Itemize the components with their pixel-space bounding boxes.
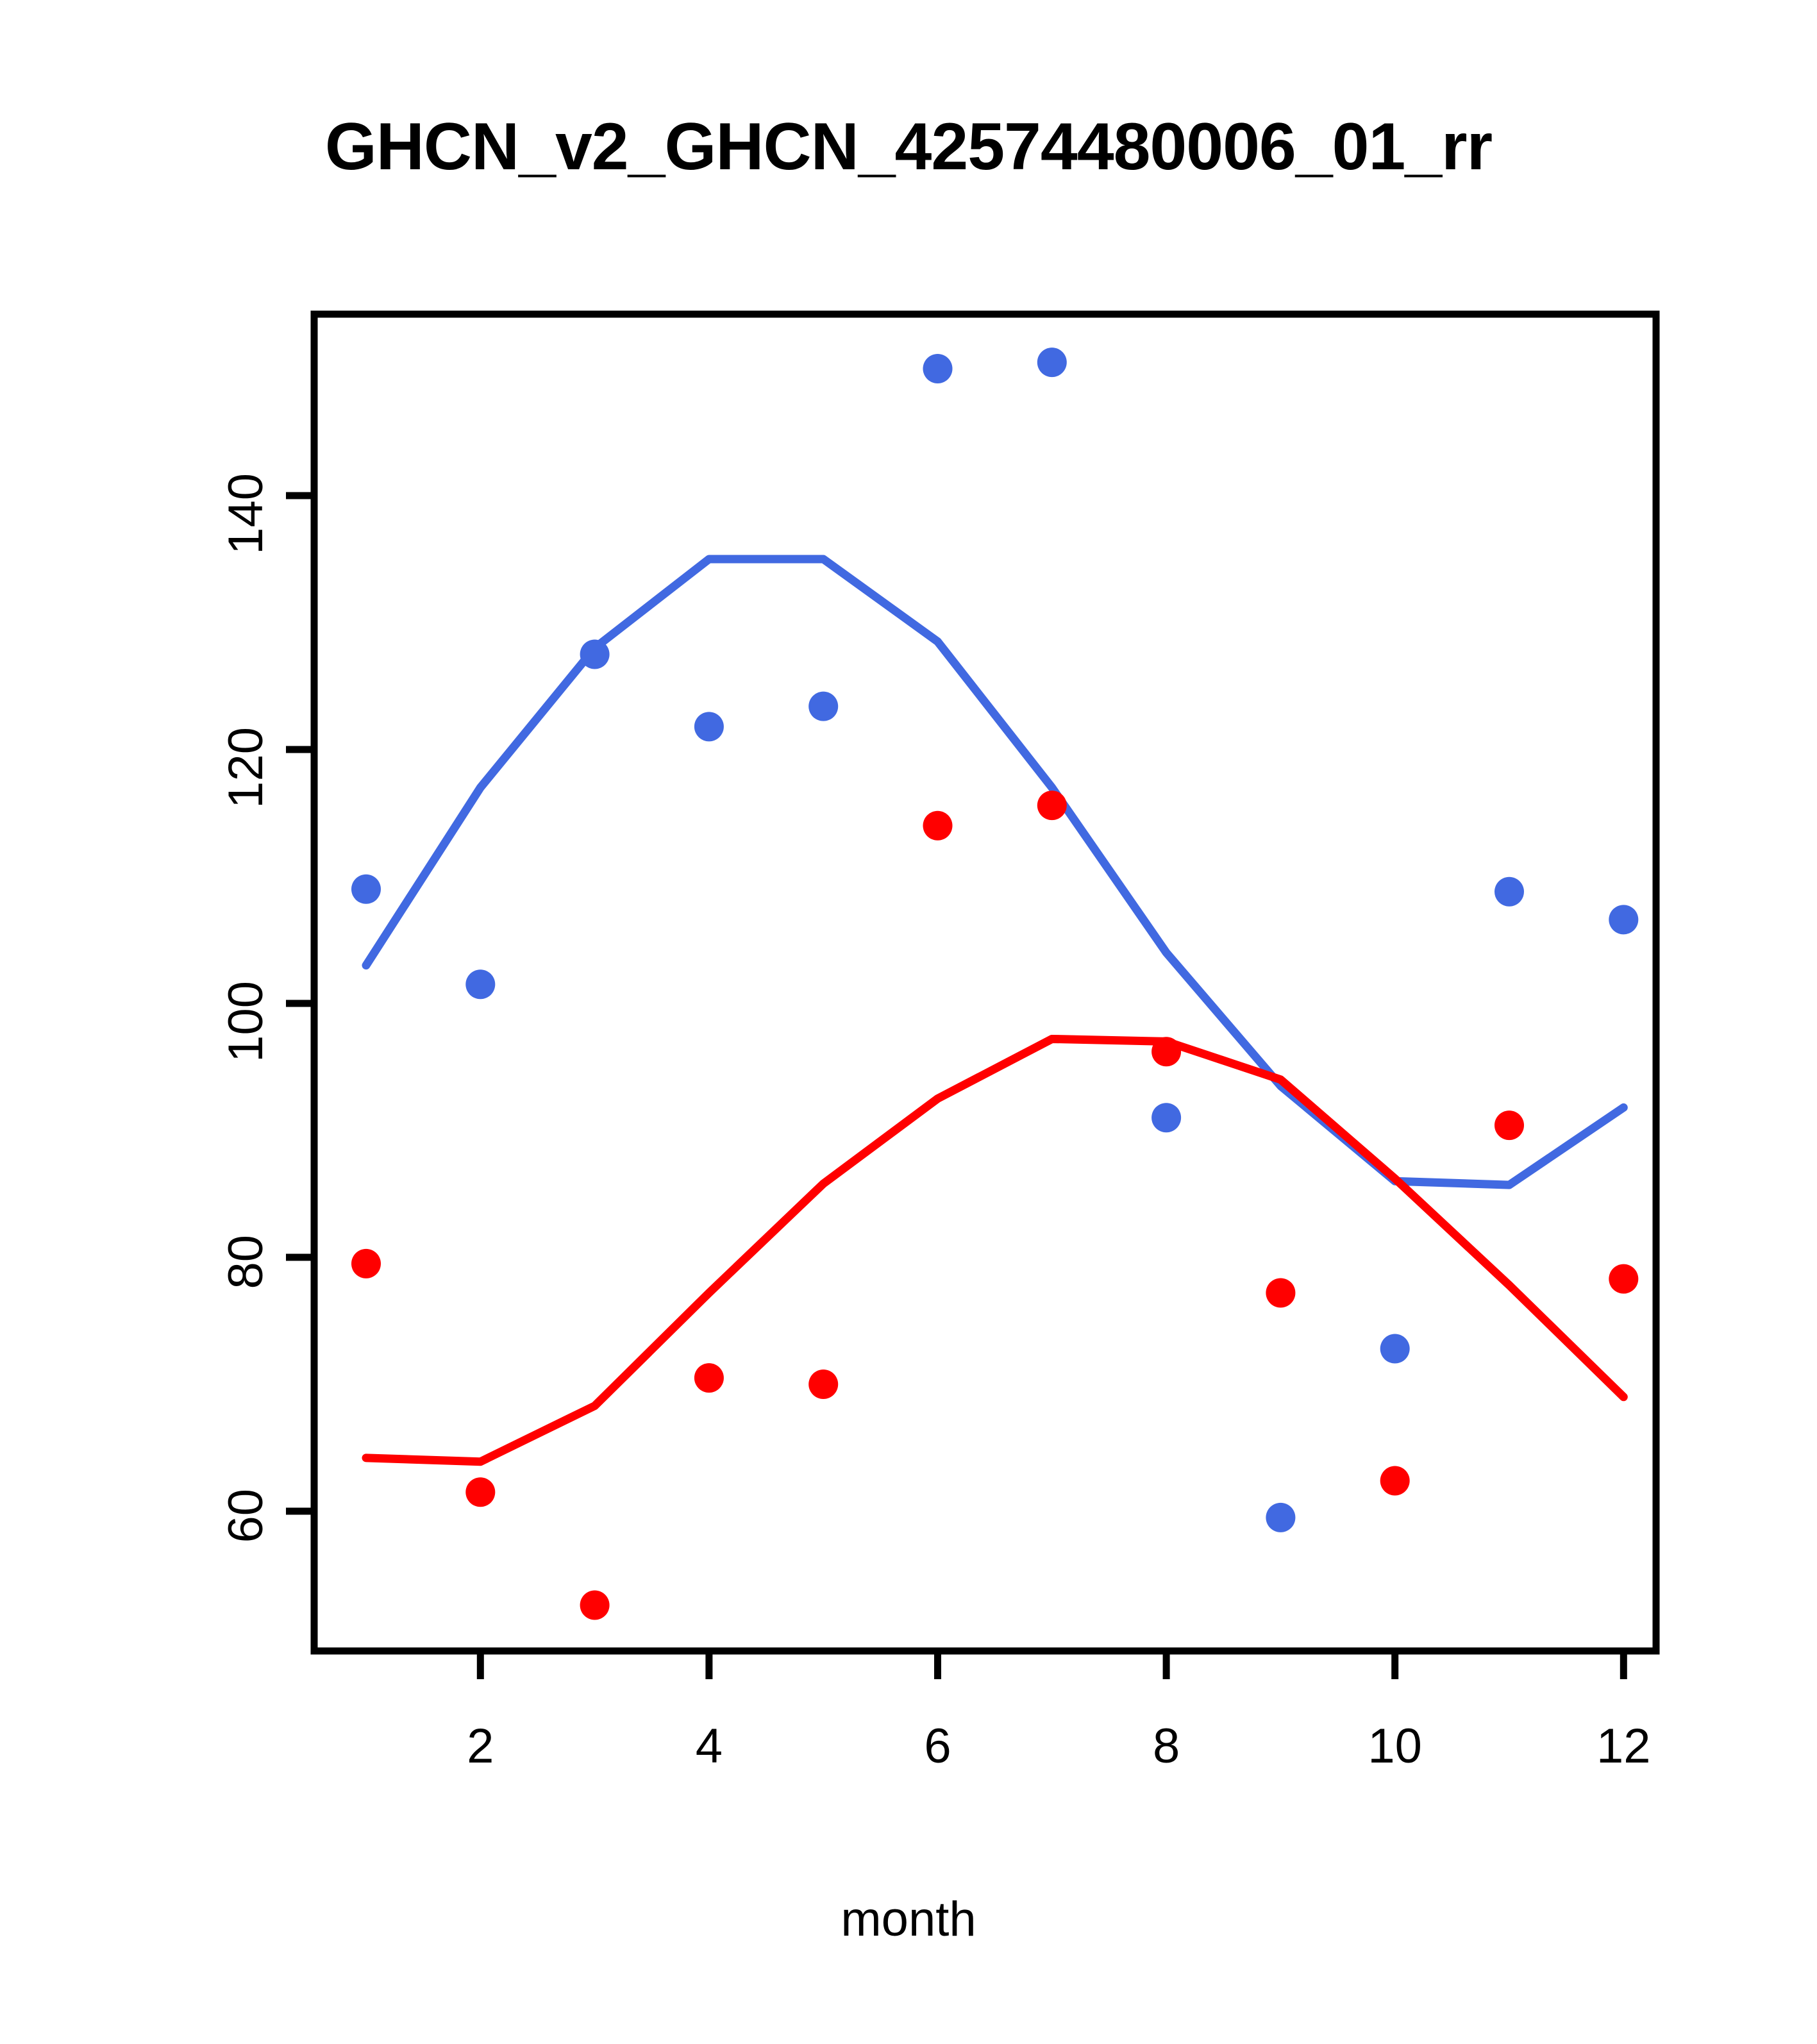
data-point — [1380, 1334, 1410, 1364]
y-tick-label: 120 — [218, 727, 274, 996]
data-point — [1609, 905, 1638, 934]
data-point — [808, 692, 838, 721]
data-point — [1609, 1264, 1638, 1294]
data-point — [580, 640, 610, 669]
x-tick-label: 2 — [416, 1718, 544, 1774]
data-point — [923, 354, 953, 383]
y-tick-label: 140 — [218, 473, 274, 742]
data-point — [1495, 1110, 1524, 1140]
data-point — [694, 712, 724, 741]
data-point — [694, 1363, 724, 1393]
y-tick-label: 80 — [218, 1235, 274, 1504]
x-axis-label: month — [0, 1891, 1817, 1947]
y-tick-label: 60 — [218, 1489, 274, 1758]
data-point — [1495, 877, 1524, 907]
x-tick-label: 10 — [1331, 1718, 1459, 1774]
data-point — [1266, 1503, 1295, 1532]
data-point — [351, 1249, 381, 1278]
data-point — [808, 1370, 838, 1399]
data-point — [1037, 791, 1067, 820]
y-tick-label: 100 — [218, 981, 274, 1250]
x-tick-label: 12 — [1559, 1718, 1687, 1774]
data-point — [923, 811, 953, 841]
data-point — [1037, 348, 1067, 377]
series-line-blue-line — [366, 559, 1623, 1185]
series-line-red-line — [366, 1039, 1623, 1461]
series-lines — [366, 559, 1623, 1462]
plot-figure: GHCN_v2_GHCN_42574480006_01_rr 608010012… — [0, 0, 1817, 2044]
y-axis-ticks — [286, 496, 314, 1511]
x-axis-ticks — [480, 1651, 1623, 1679]
data-point — [465, 1477, 495, 1507]
data-point — [351, 875, 381, 904]
data-point — [1151, 1103, 1181, 1132]
x-tick-label: 4 — [645, 1718, 773, 1774]
x-tick-label: 8 — [1102, 1718, 1230, 1774]
x-tick-label: 6 — [874, 1718, 1002, 1774]
data-point — [580, 1591, 610, 1620]
data-point — [465, 969, 495, 999]
plot-frame — [314, 314, 1656, 1651]
data-point — [1380, 1466, 1410, 1495]
data-point — [1151, 1037, 1181, 1066]
data-point — [1266, 1278, 1295, 1307]
